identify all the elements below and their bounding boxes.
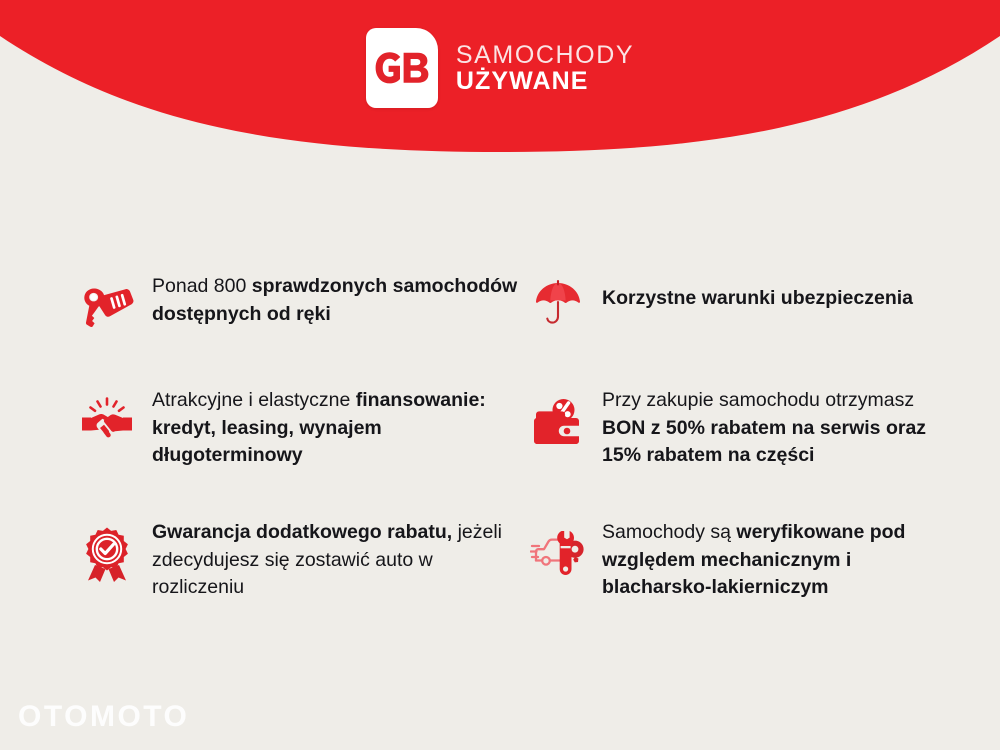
benefit-item-verified-cars: Samochody są weryfikowane pod względem m… (530, 518, 958, 602)
benefit-text: Gwarancja dodatkowego rabatu, jeżeli zde… (152, 518, 530, 602)
brand-title: SAMOCHODY UŻYWANE (456, 42, 634, 95)
benefit-item-insurance: Korzystne warunki ubezpieczenia (530, 272, 958, 338)
benefit-lead: Ponad 800 (152, 275, 252, 297)
umbrella-icon (530, 274, 586, 332)
benefit-item-trade-in-discount: Gwarancja dodatkowego rabatu, jeżeli zde… (78, 518, 530, 602)
brand-title-line-2: UŻYWANE (456, 68, 634, 95)
handshake-icon (78, 392, 136, 450)
benefit-item-service-voucher: Przy zakupie samochodu otrzymasz BON z 5… (530, 386, 958, 470)
benefit-strong: BON z 50% rabatem na serwis oraz 15% rab… (602, 417, 926, 467)
benefit-text: Ponad 800 sprawdzonych samochodów dostęp… (152, 272, 530, 328)
benefit-text: Przy zakupie samochodu otrzymasz BON z 5… (602, 386, 958, 470)
car-wrench-icon (530, 524, 586, 582)
brand-title-line-1: SAMOCHODY (456, 42, 634, 69)
benefit-lead: Przy zakupie samochodu otrzymasz (602, 389, 914, 411)
benefit-text: Samochody są weryfikowane pod względem m… (602, 518, 958, 602)
benefit-strong: Korzystne warunki ubezpieczenia (602, 287, 913, 309)
benefit-item-financing: Atrakcyjne i elastyczne finansowanie: kr… (78, 386, 530, 470)
promo-banner: SAMOCHODY UŻYWANE (0, 0, 1000, 750)
key-tag-icon (78, 280, 136, 338)
header-brand: SAMOCHODY UŻYWANE (0, 28, 1000, 108)
benefit-strong: Gwarancja dodatkowego rabatu, (152, 521, 452, 543)
benefits-grid: Ponad 800 sprawdzonych samochodów dostęp… (78, 272, 958, 602)
wallet-percent-icon (530, 394, 586, 452)
benefit-text: Korzystne warunki ubezpieczenia (602, 272, 958, 313)
benefit-lead: Samochody są (602, 521, 736, 543)
otomoto-watermark: OTOMOTO (18, 700, 189, 734)
benefit-item-available-cars: Ponad 800 sprawdzonych samochodów dostęp… (78, 272, 530, 338)
benefit-lead: Atrakcyjne i elastyczne (152, 389, 356, 411)
benefit-text: Atrakcyjne i elastyczne finansowanie: kr… (152, 386, 530, 470)
rosette-check-icon (78, 526, 136, 584)
gb-logo-icon (366, 28, 438, 108)
